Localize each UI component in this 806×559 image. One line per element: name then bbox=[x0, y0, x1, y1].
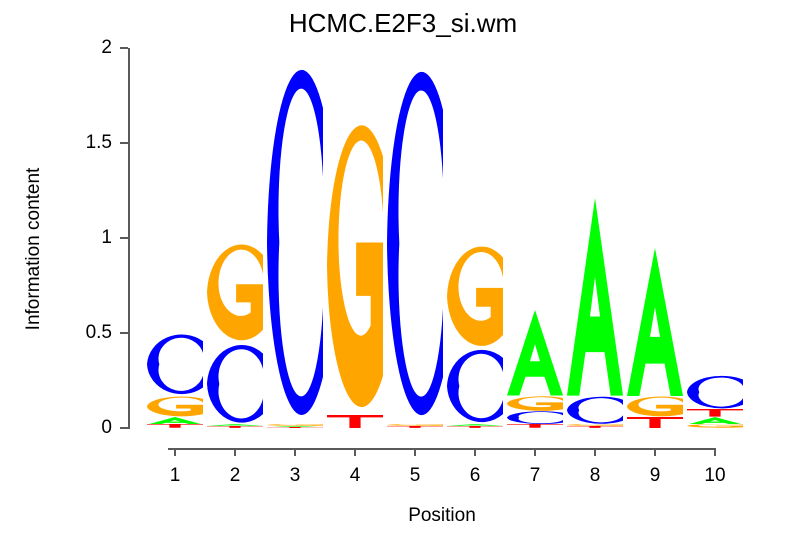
logo-letter-t bbox=[387, 426, 443, 428]
logo-letter-a bbox=[447, 424, 503, 426]
logo-letter-t bbox=[507, 424, 563, 428]
logo-stack bbox=[627, 248, 683, 429]
logo-letter-g bbox=[507, 396, 563, 411]
logo-letter-g bbox=[387, 424, 443, 426]
x-axis-tick bbox=[234, 448, 236, 456]
logo-letter-t bbox=[147, 424, 203, 428]
logo-letter-t bbox=[447, 426, 503, 428]
y-axis-tick-label: 1.5 bbox=[42, 132, 112, 154]
logo-letter-a bbox=[267, 426, 323, 427]
x-axis-tick bbox=[594, 448, 596, 456]
logo-letter-a bbox=[147, 417, 203, 425]
y-axis-tick bbox=[120, 332, 128, 334]
logo-letter-g bbox=[567, 424, 623, 426]
logo-letter-a bbox=[207, 424, 263, 426]
y-axis-tick bbox=[120, 142, 128, 144]
logo-letter-c bbox=[207, 343, 263, 425]
logo-letter-g bbox=[207, 242, 263, 343]
logo-letter-g bbox=[327, 118, 383, 414]
logo-letter-c bbox=[267, 61, 323, 424]
y-axis-tick bbox=[120, 237, 128, 239]
x-axis-tick-label: 6 bbox=[455, 465, 495, 487]
logo-letter-g bbox=[447, 244, 503, 349]
x-axis-tick-label: 10 bbox=[695, 465, 735, 487]
logo-letter-t bbox=[687, 409, 743, 417]
x-axis-tick-label: 5 bbox=[395, 465, 435, 487]
logo-letter-a bbox=[567, 198, 623, 396]
page-title: HCMC.E2F3_si.wm bbox=[0, 8, 806, 39]
logo-letter-t bbox=[327, 415, 383, 428]
x-axis-tick-label: 8 bbox=[575, 465, 615, 487]
logo-letter-g bbox=[687, 424, 743, 428]
sequence-logo-plot: HCMC.E2F3_si.wm 00.511.52 12345678910 In… bbox=[0, 0, 806, 559]
logo-stack bbox=[507, 310, 563, 428]
logo-letter-g bbox=[147, 396, 203, 417]
logo-letter-a bbox=[687, 417, 743, 425]
logo-stack bbox=[567, 198, 623, 428]
x-axis-tick-label: 1 bbox=[155, 465, 195, 487]
logo-stack bbox=[327, 118, 383, 428]
x-axis-tick bbox=[654, 448, 656, 456]
x-axis-title: Position bbox=[168, 505, 716, 527]
y-axis-tick-label: 2 bbox=[42, 37, 112, 59]
y-axis-tick-label: 0 bbox=[42, 417, 112, 439]
logo-stack bbox=[387, 63, 443, 428]
logo-letter-t bbox=[567, 426, 623, 428]
x-axis-tick bbox=[414, 448, 416, 456]
logo-letter-g bbox=[267, 424, 323, 426]
x-axis-tick-label: 3 bbox=[275, 465, 315, 487]
logo-letter-a bbox=[627, 248, 683, 396]
logo-letter-c bbox=[687, 375, 743, 409]
logo-letter-g bbox=[627, 396, 683, 417]
x-axis-tick-label: 2 bbox=[215, 465, 255, 487]
logo-letter-t bbox=[627, 417, 683, 428]
y-axis-tick bbox=[120, 47, 128, 49]
x-axis-tick bbox=[474, 448, 476, 456]
x-axis-tick bbox=[354, 448, 356, 456]
x-axis-tick-label: 9 bbox=[635, 465, 675, 487]
logo-letter-c bbox=[447, 348, 503, 424]
x-axis-tick-label: 4 bbox=[335, 465, 375, 487]
logo-stack bbox=[207, 242, 263, 428]
y-axis-line bbox=[128, 48, 130, 429]
x-axis-tick bbox=[534, 448, 536, 456]
logo-stack bbox=[447, 244, 503, 428]
x-axis-line bbox=[168, 448, 716, 450]
logo-letter-t bbox=[267, 427, 323, 428]
y-axis-title: Information content bbox=[23, 119, 45, 379]
logo-letter-t bbox=[207, 426, 263, 428]
logo-stack bbox=[267, 61, 323, 428]
y-axis-tick bbox=[120, 427, 128, 429]
logo-letter-a bbox=[507, 310, 563, 396]
x-axis-tick-label: 7 bbox=[515, 465, 555, 487]
logo-letter-c bbox=[507, 411, 563, 424]
y-axis-tick-label: 0.5 bbox=[42, 322, 112, 344]
x-axis-tick bbox=[174, 448, 176, 456]
x-axis-tick bbox=[294, 448, 296, 456]
logo-letter-c bbox=[567, 396, 623, 425]
x-axis-tick bbox=[714, 448, 716, 456]
logo-letter-c bbox=[147, 333, 203, 396]
y-axis-tick-label: 1 bbox=[42, 227, 112, 249]
logo-stack bbox=[687, 375, 743, 428]
logo-letter-c bbox=[387, 63, 443, 424]
logo-stack bbox=[147, 333, 203, 428]
